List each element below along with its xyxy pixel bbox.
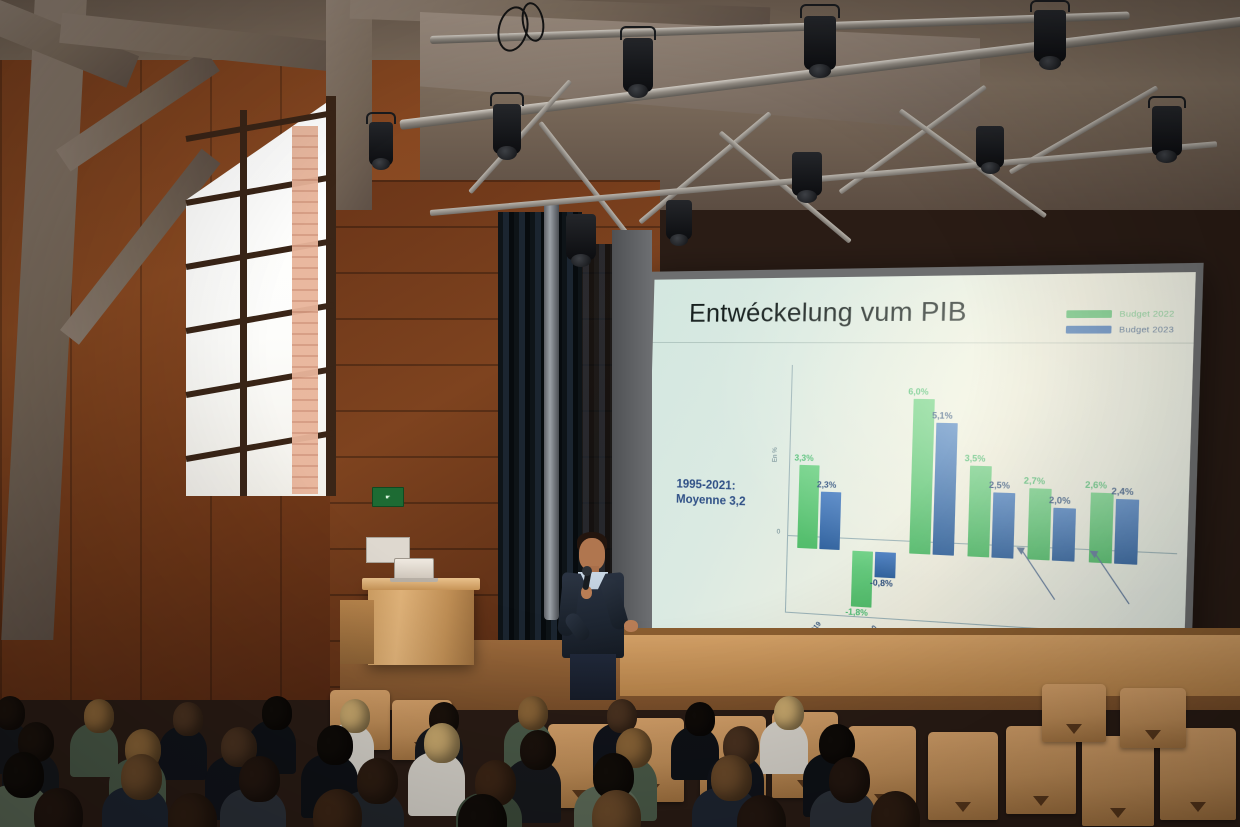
audience-member-head bbox=[262, 696, 292, 730]
chart-zero-tick-label: 0 bbox=[777, 529, 781, 535]
audience-member-head bbox=[317, 725, 353, 765]
auditorium-chair[interactable] bbox=[1042, 684, 1106, 742]
lamp-lens-icon bbox=[1156, 150, 1177, 163]
lamp-lens-icon bbox=[797, 190, 817, 203]
chart-bar-2021-budget-2022 bbox=[909, 399, 935, 554]
legend-item-budget-2022: Budget 2022 bbox=[1067, 309, 1175, 320]
lamp-lens-icon bbox=[571, 254, 591, 267]
lamp-lens-icon bbox=[628, 84, 648, 98]
chart-value-label-2020-budget-2023: -0,8% bbox=[870, 578, 893, 589]
legend-label-budget-2022: Budget 2022 bbox=[1119, 309, 1174, 319]
chart-group-2021: 6,0%5,1%2021 bbox=[905, 379, 966, 636]
chart-bar-2022-budget-2023 bbox=[991, 492, 1015, 559]
legend-swatch-green bbox=[1067, 310, 1113, 318]
presenter-laptop-screen bbox=[394, 558, 434, 580]
chart-value-label-2022-budget-2023: 2,5% bbox=[989, 480, 1010, 490]
stage-wall-trim bbox=[620, 628, 1240, 635]
presenter bbox=[540, 520, 660, 700]
chart-value-label-2020-budget-2022: -1,8% bbox=[845, 607, 868, 618]
audience-member-head bbox=[711, 755, 753, 801]
audience-member-head bbox=[0, 696, 25, 730]
side-note-line-2: Moyenne 3,2 bbox=[676, 492, 746, 510]
audience-member-head bbox=[685, 702, 715, 736]
slide-title: Entwéckelung vum PIB bbox=[689, 297, 967, 329]
stage-wall-base bbox=[620, 632, 1240, 696]
presenter-laptop-base bbox=[390, 578, 438, 582]
chart-group-2019: 3,3%2,3%2019 bbox=[793, 377, 851, 628]
chart-value-label-2021-budget-2022: 6,0% bbox=[908, 387, 929, 397]
bar-chart: En % 0 3,3%2,3%2019-1,8%-0,8%20206,0%5,1… bbox=[766, 365, 1183, 651]
chart-bar-2019-budget-2022 bbox=[797, 465, 819, 549]
chart-value-label-2021-budget-2023: 5,1% bbox=[932, 411, 953, 421]
chart-value-label-2019-budget-2023: 2,3% bbox=[817, 479, 837, 489]
emergency-exit-sign: ☛ bbox=[372, 487, 404, 507]
lectern bbox=[368, 585, 474, 665]
window-mullion-vertical-1 bbox=[240, 110, 247, 496]
chart-group-2022: 3,5%2,5%2022 bbox=[963, 379, 1026, 640]
lamp-housing bbox=[804, 16, 836, 70]
legend-label-budget-2023: Budget 2023 bbox=[1119, 324, 1174, 334]
brick-reveal bbox=[292, 126, 318, 494]
chart-value-label-2024-budget-2022: 2,6% bbox=[1085, 480, 1107, 491]
chart-value-label-2023-budget-2022: 2,7% bbox=[1024, 476, 1046, 487]
chart-value-label-2019-budget-2022: 3,3% bbox=[794, 454, 813, 464]
chart-value-label-2023-budget-2023: 2,0% bbox=[1049, 495, 1071, 506]
audience-member-head bbox=[424, 723, 460, 763]
chart-value-label-2024-budget-2023: 2,4% bbox=[1111, 487, 1133, 498]
microphone-capsule-icon bbox=[582, 566, 592, 576]
lamp-lens-icon bbox=[372, 158, 390, 170]
projection-screen: Entwéckelung vum PIB Budget 2022 Budget … bbox=[633, 263, 1204, 679]
chart-bar-groups: 3,3%2,3%2019-1,8%-0,8%20206,0%5,1%20213,… bbox=[773, 365, 1183, 368]
audience-member-head bbox=[173, 702, 203, 736]
exit-icon: ☛ bbox=[385, 494, 390, 501]
legend-item-budget-2023: Budget 2023 bbox=[1066, 324, 1174, 334]
lamp-lens-icon bbox=[809, 64, 831, 78]
chart-y-axis bbox=[785, 365, 793, 612]
presentation-slide: Entwéckelung vum PIB Budget 2022 Budget … bbox=[645, 272, 1196, 667]
chart-bar-2024-budget-2023 bbox=[1114, 499, 1139, 565]
chart-bar-2023-budget-2023 bbox=[1052, 507, 1076, 561]
audience-member-head bbox=[518, 696, 548, 730]
lamp-housing bbox=[1152, 106, 1182, 156]
audience-member-head bbox=[239, 756, 281, 802]
audience-member-head bbox=[829, 757, 871, 803]
lamp-housing bbox=[1034, 10, 1066, 62]
lamp-lens-icon bbox=[981, 162, 1000, 174]
chart-y-axis-label: En % bbox=[773, 447, 780, 462]
audience-member-head bbox=[3, 752, 45, 798]
auditorium-chair[interactable] bbox=[928, 732, 998, 820]
lamp-lens-icon bbox=[1039, 56, 1061, 70]
audience-member-head bbox=[520, 730, 556, 770]
chart-legend: Budget 2022 Budget 2023 bbox=[1066, 309, 1175, 341]
audience-member-head bbox=[357, 758, 399, 804]
slide-side-note: 1995-2021: Moyenne 3,2 bbox=[676, 477, 746, 510]
auditorium-chair[interactable] bbox=[1120, 688, 1186, 748]
tall-window bbox=[186, 96, 336, 496]
chart-group-2020: -1,8%-0,8%2020 bbox=[848, 378, 908, 632]
chart-group-2024: 2,6%2,4%2024 bbox=[1084, 380, 1150, 648]
auditorium-scene: Entwéckelung vum PIB Budget 2022 Budget … bbox=[0, 0, 1240, 827]
lamp-lens-icon bbox=[670, 234, 688, 246]
chart-bar-2021-budget-2023 bbox=[933, 423, 958, 556]
audience-member-head bbox=[34, 788, 83, 827]
lamp-lens-icon bbox=[497, 146, 517, 160]
legend-swatch-blue bbox=[1066, 326, 1112, 334]
slide-divider bbox=[653, 342, 1194, 344]
audience-member-head bbox=[774, 696, 804, 730]
audience-member-head bbox=[84, 699, 114, 733]
lectern-side-panel bbox=[340, 600, 374, 664]
presenter-trousers bbox=[570, 654, 616, 700]
auditorium-chair[interactable] bbox=[1082, 736, 1154, 826]
presenter-hand-gesture bbox=[624, 620, 638, 632]
chart-group-2023: 2,7%2,0%2023 bbox=[1023, 380, 1088, 644]
chart-value-label-2022-budget-2022: 3,5% bbox=[965, 453, 986, 463]
chart-bar-2020-budget-2023 bbox=[874, 552, 895, 578]
audience-member-head bbox=[121, 754, 163, 800]
chart-bar-2019-budget-2023 bbox=[819, 491, 841, 550]
